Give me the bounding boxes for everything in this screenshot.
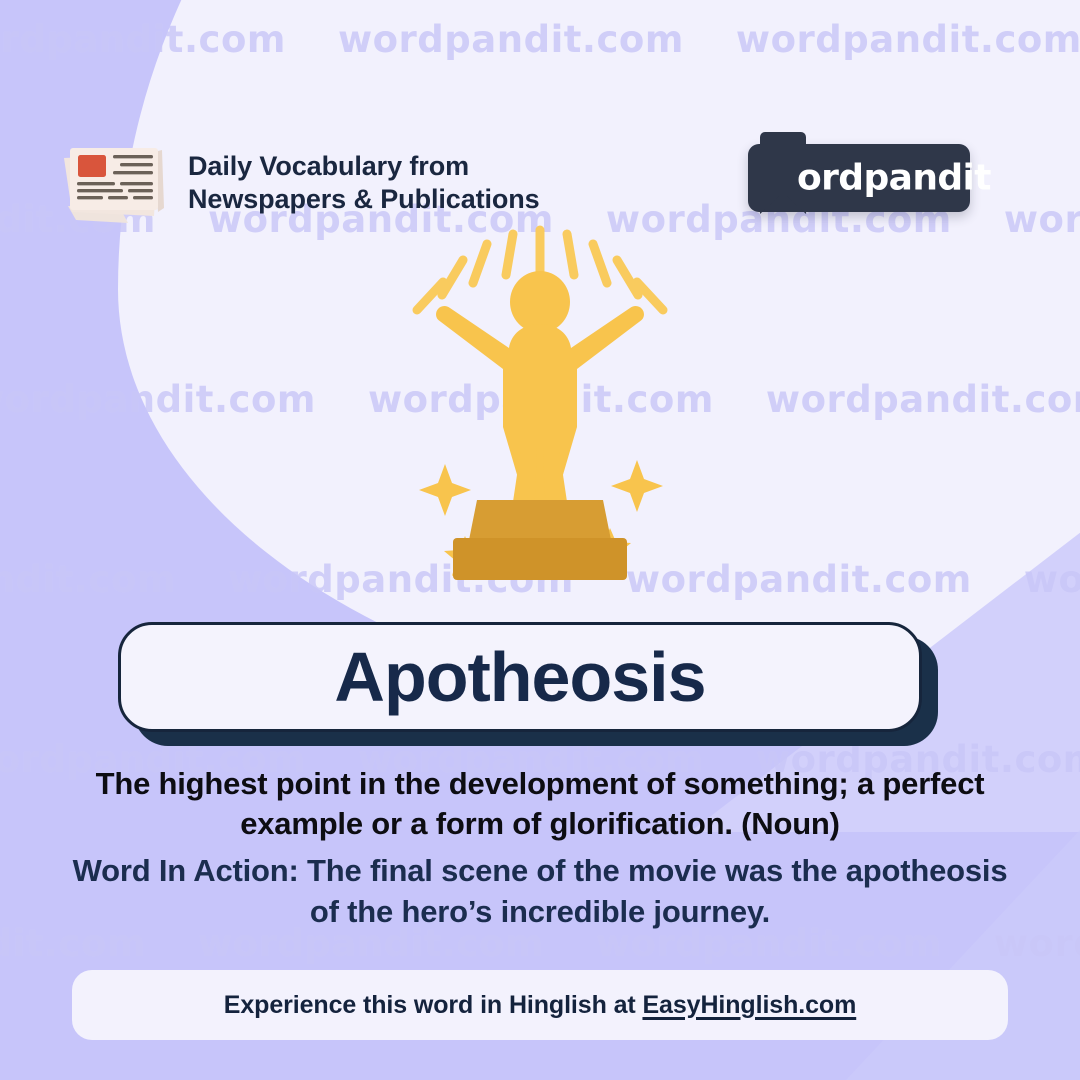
poster-header: Daily Vocabulary from Newspapers & Publi… <box>0 60 1080 180</box>
trophy-figure-icon <box>405 212 675 592</box>
trophy-pedestal <box>453 500 627 580</box>
word-definition: The highest point in the development of … <box>70 764 1010 845</box>
word-card-face: Apotheosis <box>118 622 922 732</box>
vocabulary-poster: wordpandit.comwordpandit.comwordpandit.c… <box>0 0 1080 1080</box>
newspaper-icon <box>58 128 174 228</box>
brand-logo-text: ordpandit <box>797 158 991 199</box>
footer-bar[interactable]: Experience this word in Hinglish at Easy… <box>72 970 1008 1040</box>
word-card: Apotheosis <box>118 622 922 732</box>
header-title: Daily Vocabulary from Newspapers & Publi… <box>188 150 540 216</box>
word-in-action-example: Word In Action: The final scene of the m… <box>70 851 1010 932</box>
page-title: Apotheosis <box>334 642 705 712</box>
footer-prefix: Experience this word in Hinglish at <box>224 991 643 1019</box>
easyhinglish-link[interactable]: EasyHinglish.com <box>642 991 856 1019</box>
wordpandit-logo[interactable]: ordpandit <box>748 144 970 212</box>
footer-text: Experience this word in Hinglish at Easy… <box>224 991 856 1020</box>
